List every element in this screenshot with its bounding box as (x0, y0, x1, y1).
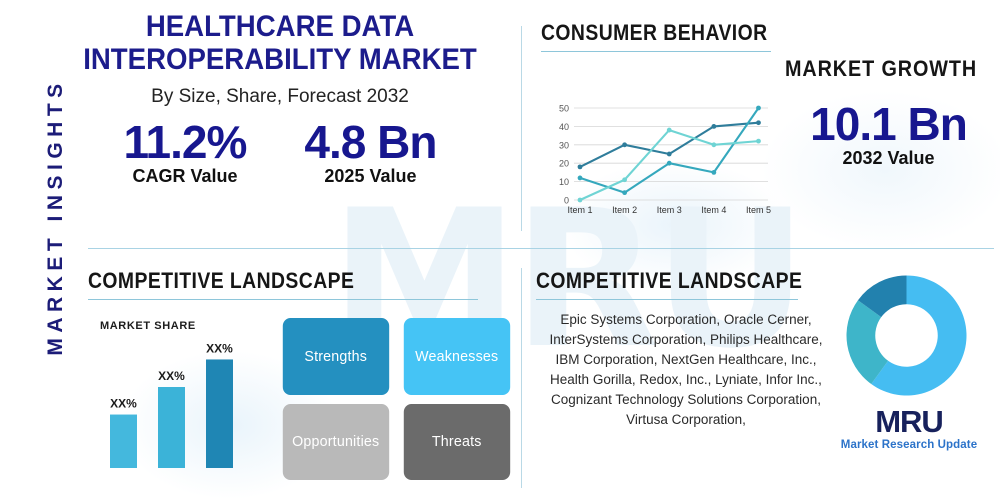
swot-threats-label: Threats (431, 433, 481, 450)
svg-text:10: 10 (559, 177, 569, 187)
horizontal-divider (88, 248, 994, 249)
company-list: Epic Systems Corporation, Oracle Cerner,… (536, 310, 836, 430)
market-share-donut-chart (844, 273, 969, 398)
competitive-landscape-left-panel: COMPETITIVE LANDSCAPE MARKET SHARE XX%XX… (88, 268, 518, 300)
swot-strengths-label: Strengths (304, 348, 367, 365)
stat-2025: 4.8 Bn 2025 Value (304, 116, 436, 187)
vertical-divider-bottom (521, 268, 522, 488)
swot-weaknesses-label: Weaknesses (415, 348, 498, 365)
swot-strengths[interactable]: Strengths (283, 318, 389, 395)
market-growth-value: 10.1 Bn (781, 98, 996, 150)
stat-2025-value: 4.8 Bn (304, 116, 436, 168)
svg-text:30: 30 (559, 140, 569, 150)
infographic-canvas: MRU MARKET INSIGHTS HEALTHCARE DATA INTE… (0, 0, 1000, 500)
line-chart: 01020304050 Item 1Item 2Item 3Item 4Item… (546, 100, 771, 225)
title-panel: HEALTHCARE DATA INTEROPERABILITY MARKET … (40, 10, 520, 187)
svg-text:Item 2: Item 2 (612, 205, 637, 215)
stat-cagr: 11.2% CAGR Value (124, 116, 247, 187)
competitive-landscape-left-heading: COMPETITIVE LANDSCAPE (88, 268, 466, 294)
svg-text:Item 3: Item 3 (657, 205, 682, 215)
mru-logo-mark: MRU (834, 406, 984, 438)
svg-text:XX%: XX% (206, 341, 233, 355)
market-growth-stat: 10.1 Bn 2032 Value (781, 98, 996, 169)
swot-weaknesses[interactable]: Weaknesses (403, 318, 509, 395)
swot-opportunities[interactable]: Opportunities (283, 404, 389, 481)
svg-text:20: 20 (559, 159, 569, 169)
swot-grid: Strengths Weaknesses Opportunities Threa… (280, 318, 512, 480)
svg-text:XX%: XX% (110, 397, 137, 411)
donut-and-logo: MRU Market Research Update (834, 268, 994, 493)
market-share-bar-chart: XX%XX%XX% (96, 328, 256, 478)
svg-text:0: 0 (564, 196, 569, 206)
svg-text:XX%: XX% (158, 369, 185, 383)
market-growth-label: 2032 Value (781, 148, 996, 169)
competitive-landscape-left-rule (88, 299, 478, 300)
page-subtitle: By Size, Share, Forecast 2032 (40, 86, 520, 108)
swot-threats[interactable]: Threats (403, 404, 509, 481)
consumer-behavior-heading: CONSUMER BEHAVIOR (541, 20, 941, 46)
headline-stats: 11.2% CAGR Value 4.8 Bn 2025 Value (40, 116, 520, 187)
stat-cagr-label: CAGR Value (124, 166, 247, 187)
consumer-behavior-rule (541, 51, 771, 52)
competitive-landscape-right-panel: COMPETITIVE LANDSCAPE Epic Systems Corpo… (536, 268, 996, 300)
svg-text:50: 50 (559, 104, 569, 114)
svg-text:Item 1: Item 1 (567, 205, 592, 215)
mru-logo-tagline: Market Research Update (834, 439, 984, 451)
svg-text:Item 4: Item 4 (701, 205, 726, 215)
page-title: HEALTHCARE DATA INTEROPERABILITY MARKET (59, 10, 501, 76)
mru-logo: MRU Market Research Update (834, 406, 984, 451)
competitive-landscape-right-rule (536, 299, 798, 300)
swot-opportunities-label: Opportunities (292, 433, 379, 450)
svg-text:40: 40 (559, 122, 569, 132)
stat-2025-label: 2025 Value (304, 166, 436, 187)
vertical-divider-top (521, 26, 522, 231)
stat-cagr-value: 11.2% (124, 116, 247, 168)
market-growth-heading: MARKET GROWTH (785, 56, 977, 82)
svg-text:Item 5: Item 5 (746, 205, 771, 215)
consumer-behavior-panel: CONSUMER BEHAVIOR MARKET GROWTH 10.1 Bn … (541, 20, 996, 52)
